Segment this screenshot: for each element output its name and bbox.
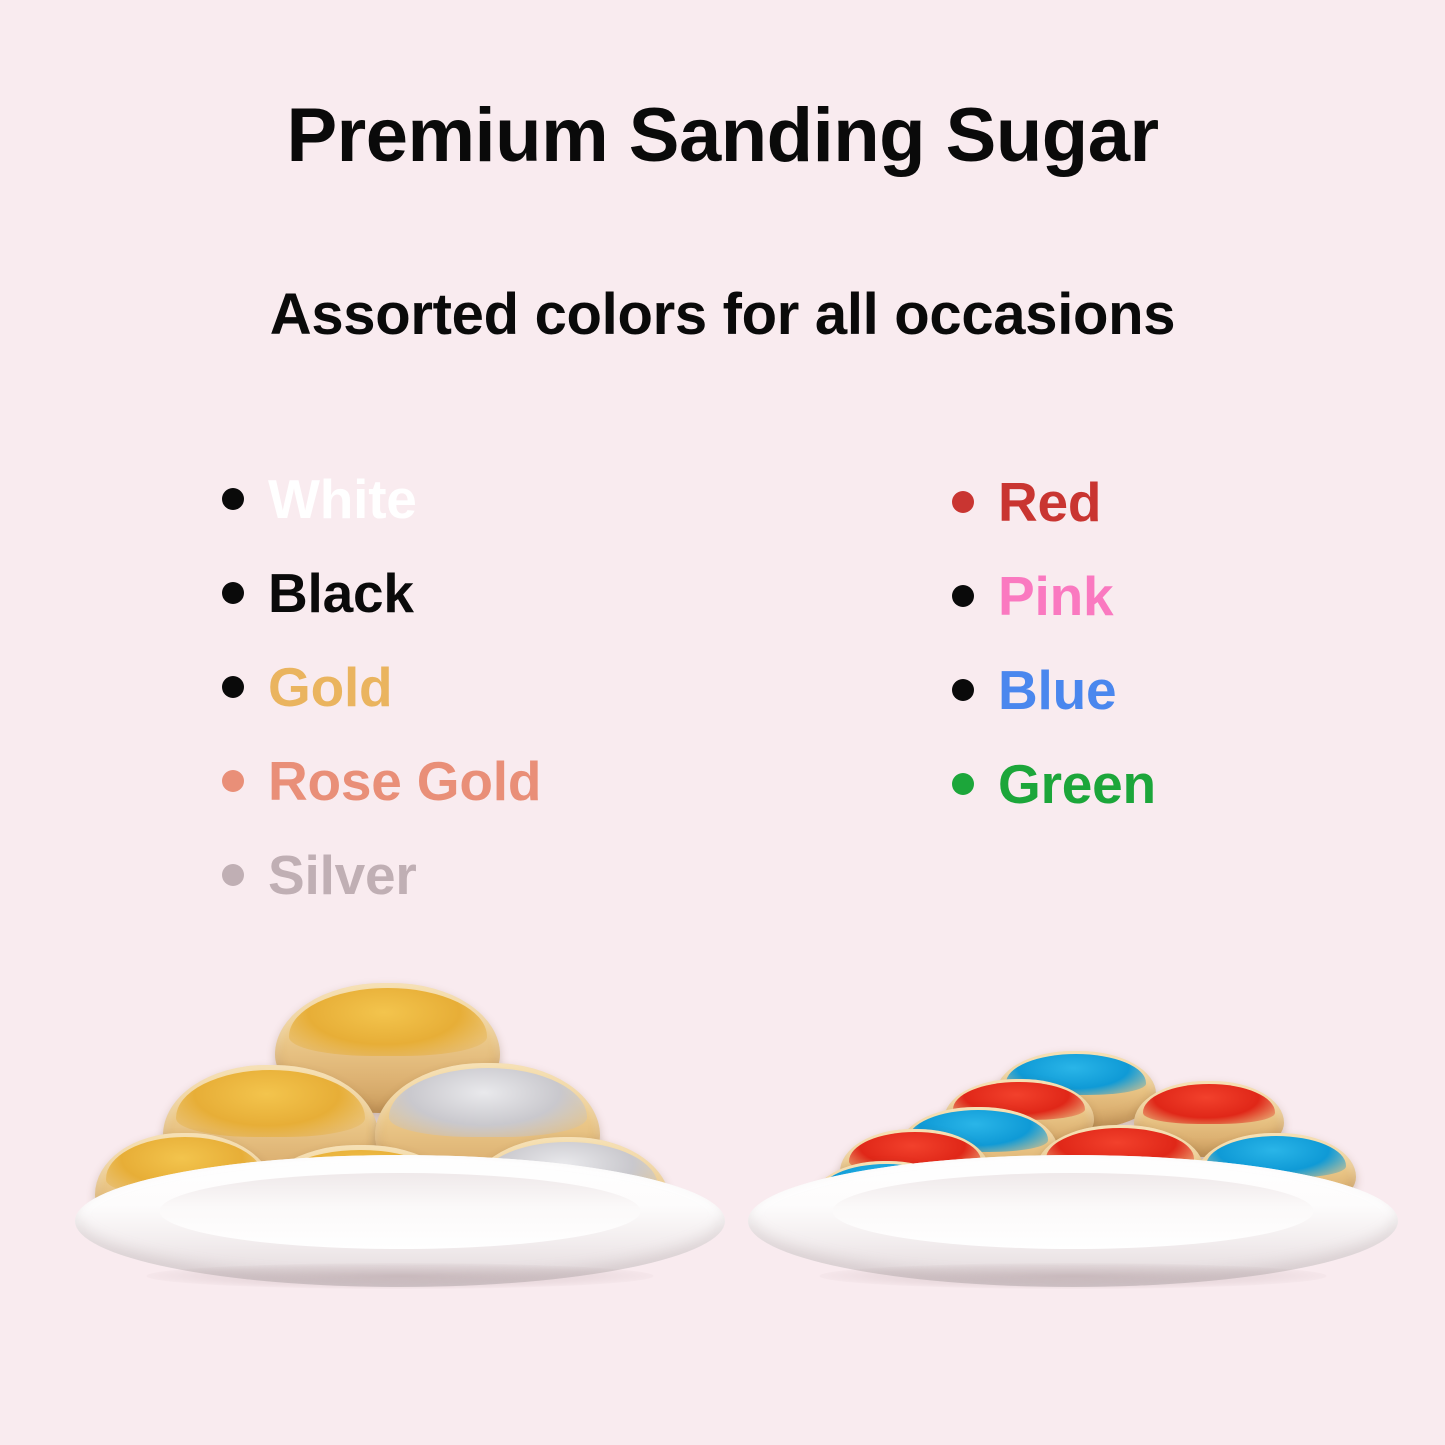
list-item: Red [952, 455, 1156, 549]
color-name-red: Red [998, 475, 1101, 530]
plate-shadow [820, 1263, 1327, 1289]
page-title: Premium Sanding Sugar [0, 96, 1445, 176]
bullet-icon [222, 770, 244, 792]
bullet-icon [952, 585, 974, 607]
bullet-icon [222, 676, 244, 698]
bullet-icon [222, 488, 244, 510]
bullet-icon [952, 679, 974, 701]
list-item: Gold [222, 640, 541, 734]
color-name-silver: Silver [268, 848, 417, 903]
color-list-right: Red Pink Blue Green [952, 455, 1156, 831]
color-name-rose-gold: Rose Gold [268, 754, 541, 809]
color-name-green: Green [998, 757, 1156, 812]
color-name-black: Black [268, 566, 414, 621]
list-item: Green [952, 737, 1156, 831]
color-name-white: White [268, 472, 417, 527]
bullet-icon [952, 773, 974, 795]
gold-and-silver-cookies-plate: Plate of sugar cookies topped with gold … [75, 965, 725, 1295]
bullet-icon [222, 582, 244, 604]
list-item: Black [222, 546, 541, 640]
color-name-blue: Blue [998, 663, 1116, 718]
list-item: Rose Gold [222, 734, 541, 828]
color-name-gold: Gold [268, 660, 392, 715]
plate-shadow [147, 1263, 654, 1289]
plate-well [160, 1173, 641, 1249]
list-item: Silver [222, 828, 541, 922]
list-item: Blue [952, 643, 1156, 737]
page-subtitle: Assorted colors for all occasions [0, 285, 1445, 346]
photo-alt-text: Plate of sugar cookies topped with red a… [748, 1045, 749, 1046]
list-item: Pink [952, 549, 1156, 643]
plate-well [833, 1173, 1314, 1249]
list-item: White [222, 452, 541, 546]
photo-alt-text: Plate of sugar cookies topped with gold … [75, 965, 76, 966]
color-list-left: White Black Gold Rose Gold Silver [222, 452, 541, 922]
product-graphic: Premium Sanding Sugar Assorted colors fo… [0, 0, 1445, 1445]
bullet-icon [952, 491, 974, 513]
bullet-icon [222, 864, 244, 886]
color-name-pink: Pink [998, 569, 1113, 624]
red-and-blue-cookies-plate: Plate of sugar cookies topped with red a… [748, 1045, 1398, 1295]
